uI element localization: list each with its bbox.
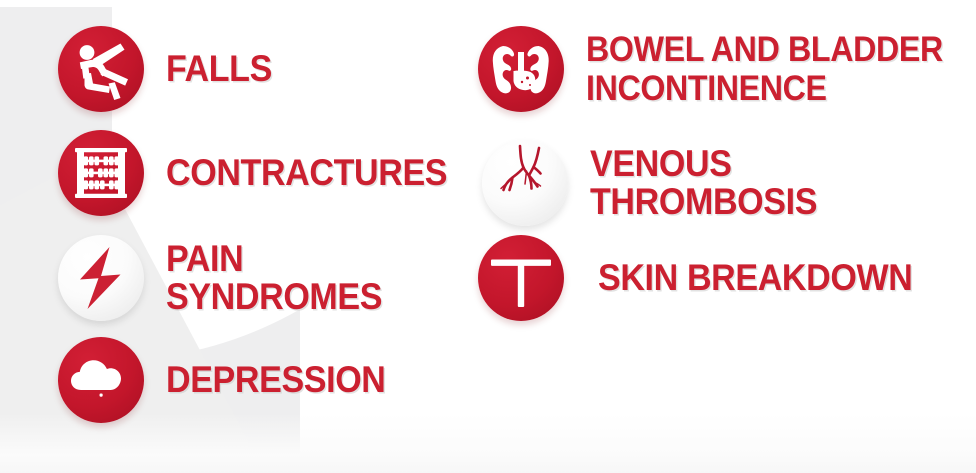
list-item-label: PAIN SYNDROMES <box>166 240 446 316</box>
list-item-label: CONTRACTURES <box>166 154 447 192</box>
abacus-glyph <box>58 130 144 216</box>
blood-vessel-glyph <box>482 140 568 226</box>
t-bandage-glyph <box>478 235 564 321</box>
abacus-icon <box>58 130 144 216</box>
slide-canvas: FALLS <box>0 0 976 473</box>
list-item-label: DEPRESSION <box>166 361 386 399</box>
falling-person-glyph <box>58 26 144 112</box>
list-item-label: SKIN BREAKDOWN <box>598 259 912 297</box>
intestine-icon <box>478 26 564 112</box>
blood-vessel-icon <box>482 140 568 226</box>
background-top-strip <box>0 0 976 7</box>
rain-cloud-glyph <box>58 337 144 423</box>
falling-person-icon <box>58 26 144 112</box>
list-item-venous-thrombosis[interactable]: VENOUS THROMBOSIS <box>482 140 976 226</box>
list-item-label: VENOUS THROMBOSIS <box>590 145 945 221</box>
t-bandage-icon <box>478 235 564 321</box>
list-item-depression[interactable]: DEPRESSION <box>58 337 405 423</box>
list-item-label: BOWEL AND BLADDER INCONTINENCE <box>586 30 943 108</box>
list-item-pain-syndromes[interactable]: PAIN SYNDROMES <box>58 235 470 321</box>
intestine-glyph <box>478 26 564 112</box>
list-item-falls[interactable]: FALLS <box>58 26 281 112</box>
lightning-bolt-icon <box>58 235 144 321</box>
rain-cloud-icon <box>58 337 144 423</box>
lightning-bolt-glyph <box>58 235 144 321</box>
list-item-skin-breakdown[interactable]: SKIN BREAKDOWN <box>478 235 940 321</box>
list-item-label: FALLS <box>166 50 272 88</box>
list-item-contractures[interactable]: CONTRACTURES <box>58 130 472 216</box>
list-item-bowel-bladder-incontinence[interactable]: BOWEL AND BLADDER INCONTINENCE <box>478 26 974 112</box>
